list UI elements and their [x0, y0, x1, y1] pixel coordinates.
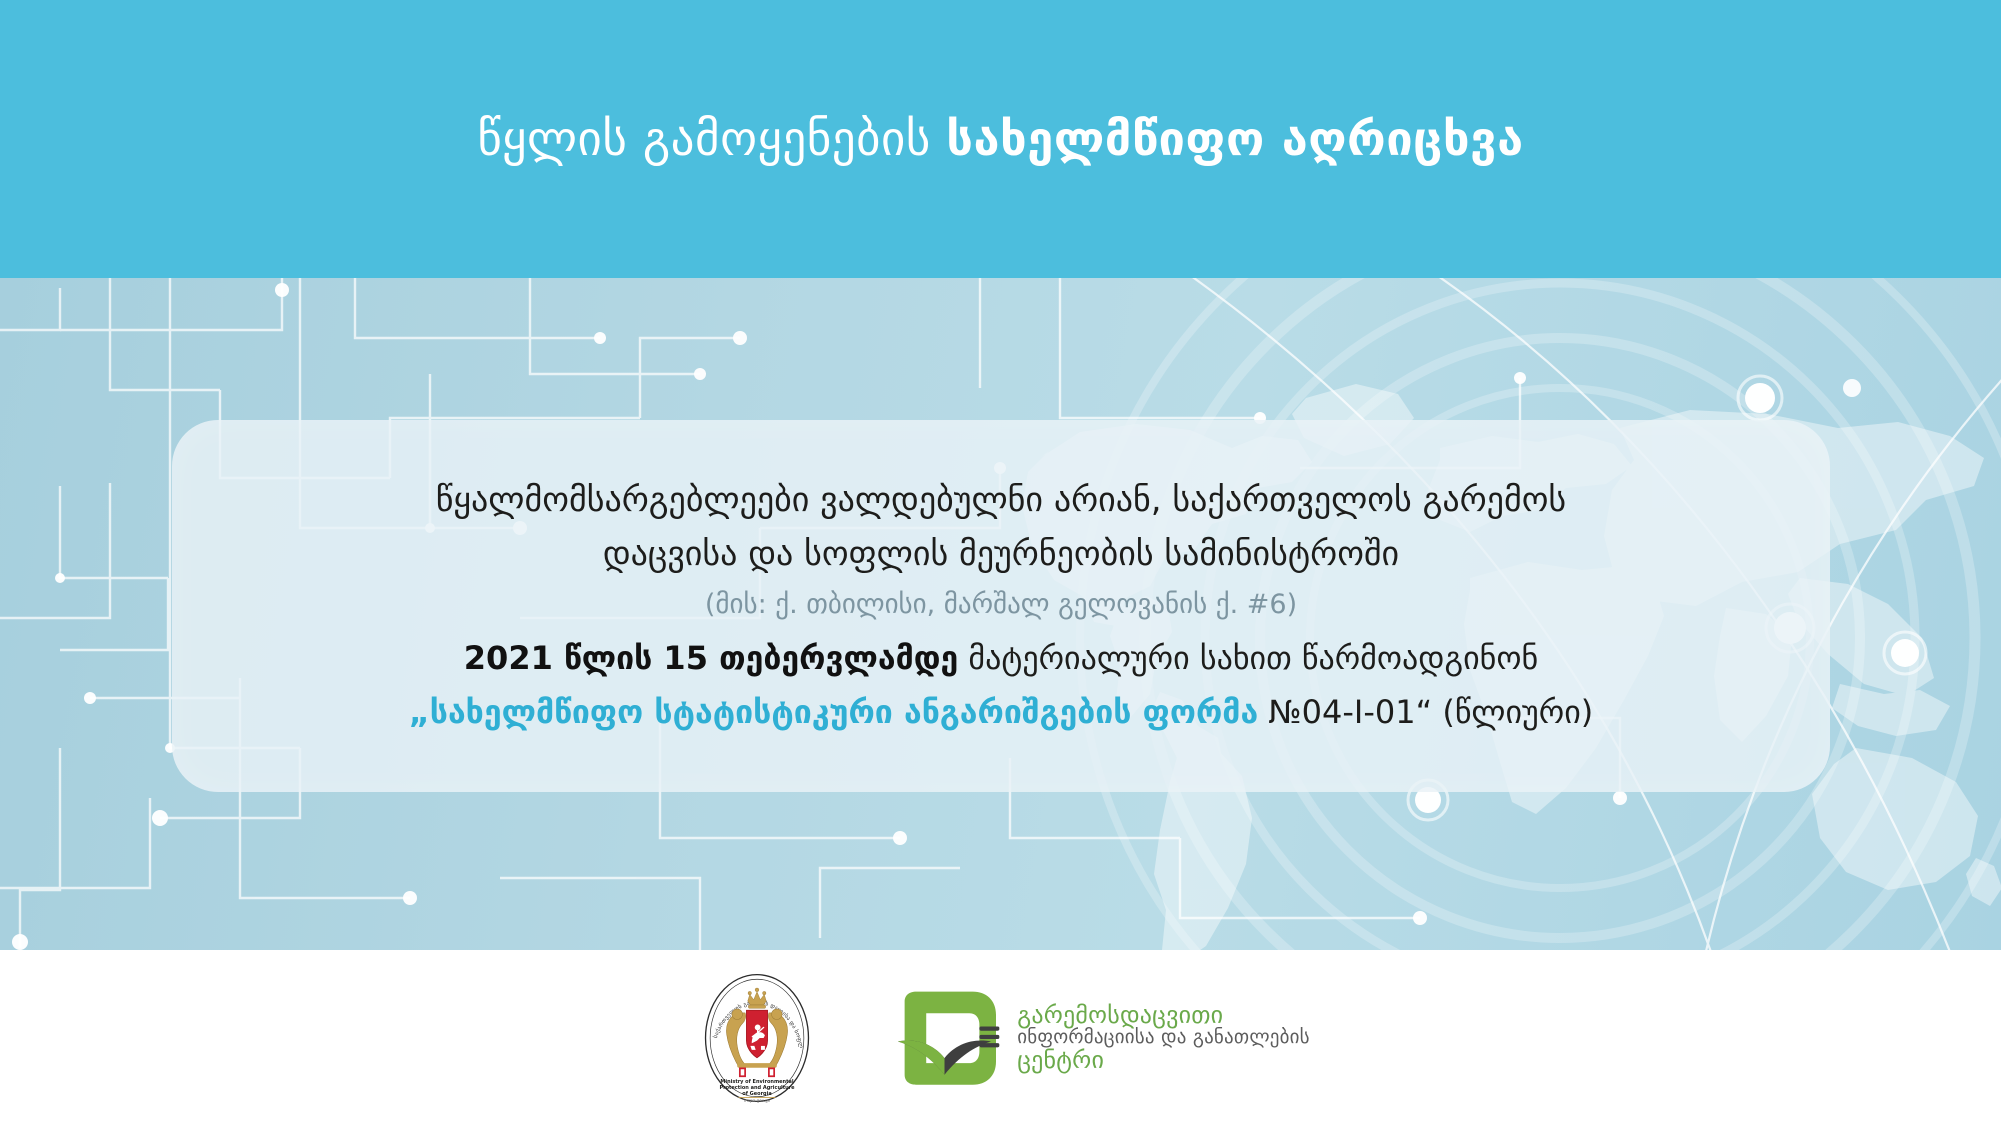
deadline-instruction: მატერიალური სახით წარმოადგინონ — [958, 639, 1538, 677]
seal-caption-line1: Ministry of Environmental — [721, 1079, 794, 1085]
form-number: №04-I-01“ (წლიური) — [1258, 693, 1593, 731]
page-title: წყლის გამოყენების სახელმწიფო აღრიცხვა — [477, 112, 1523, 167]
content-card: წყალმომსარგებლეები ვალდებულნი არიან, საქ… — [172, 420, 1830, 792]
page-title-bold: სახელმწიფო აღრიცხვა — [946, 112, 1523, 167]
eiec-logo: გარემოსდაცვითი ინფორმაციისა და განათლები… — [893, 990, 1310, 1086]
notice-line-2: დაცვისა და სოფლის მეურნეობის სამინისტროშ… — [603, 527, 1399, 581]
form-reference: „სახელმწიფო სტატისტიკური ანგარიშგების ფო… — [409, 685, 1594, 739]
submission-deadline: 2021 წლის 15 თებერვლამდე მატერიალური სახ… — [464, 631, 1538, 685]
seal-caption-line2: Protection and Agriculture — [720, 1085, 796, 1091]
form-title: სახელმწიფო სტატისტიკური ანგარიშგების ფორ… — [430, 693, 1258, 731]
seal-website: mepa.gov.ge — [744, 1098, 771, 1103]
deadline-date: 2021 წლის 15 თებერვლამდე — [464, 639, 958, 677]
quote-open: „ — [409, 693, 430, 731]
eiec-line-1: გარემოსდაცვითი — [1017, 1003, 1310, 1028]
header-bar: წყლის გამოყენების სახელმწიფო აღრიცხვა — [0, 0, 2001, 278]
page-title-light: წყლის გამოყენების — [477, 112, 946, 167]
eiec-wordmark: გარემოსდაცვითი ინფორმაციისა და განათლები… — [1017, 1003, 1310, 1073]
eiec-book-icon — [893, 990, 1001, 1086]
poster-root: წყლის გამოყენების სახელმწიფო აღრიცხვა — [0, 0, 2001, 1126]
seal-caption-line3: of Georgia — [742, 1091, 771, 1097]
ministry-address: (მის: ქ. თბილისი, მარშალ გელოვანის ქ. #6… — [705, 581, 1297, 629]
footer-logo-bar: საქართველოს გარემოს დაცვისა და სოფლის მე… — [0, 950, 2001, 1126]
eiec-line-2: ინფორმაციისა და განათლების — [1017, 1028, 1310, 1048]
ministry-seal-logo: საქართველოს გარემოს დაცვისა და სოფლის მე… — [691, 972, 823, 1104]
eiec-line-3: ცენტრი — [1017, 1048, 1310, 1073]
notice-line-1: წყალმომსარგებლეები ვალდებულნი არიან, საქ… — [436, 473, 1566, 527]
